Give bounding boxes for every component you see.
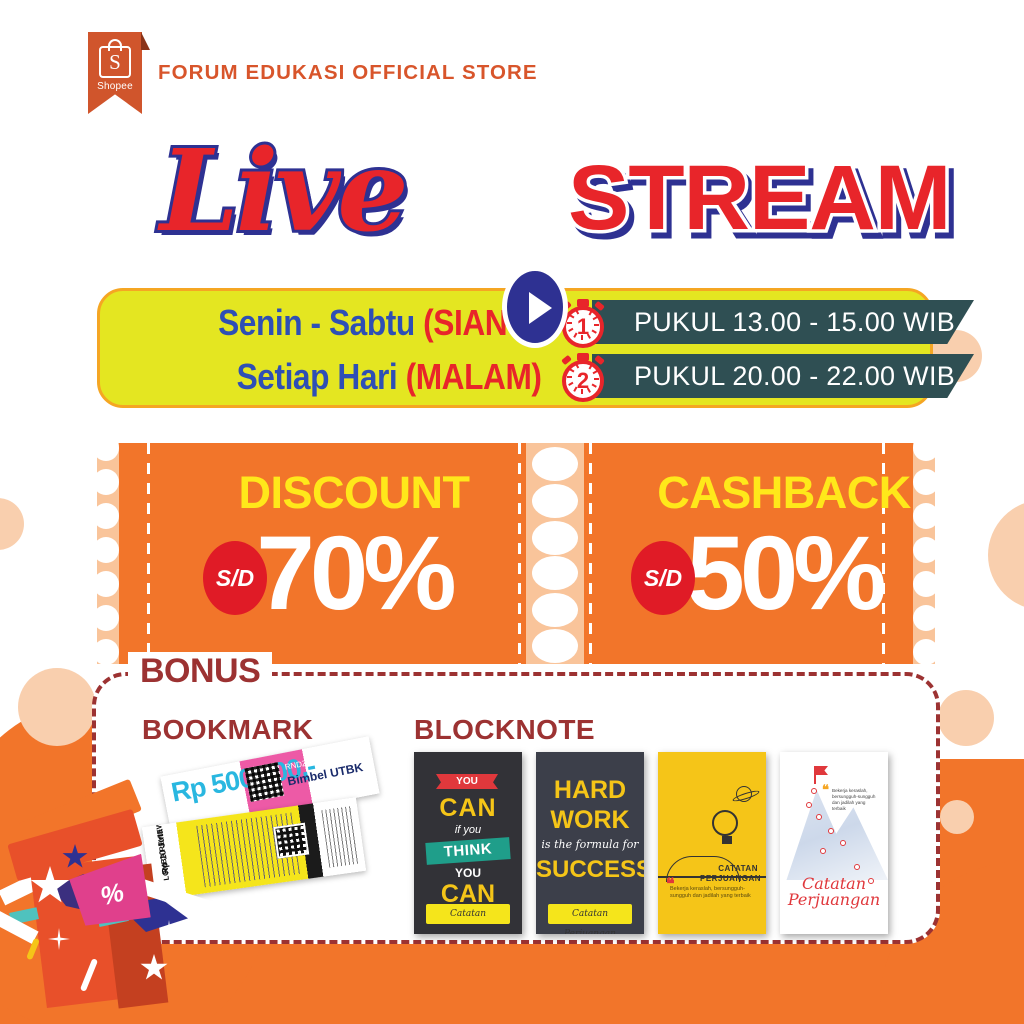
quote-icon: ❝ xyxy=(822,786,829,794)
store-header: S Shopee FORUM EDUKASI OFFICIAL STORE xyxy=(88,32,538,114)
shopee-logo-letter: S xyxy=(99,47,131,77)
planet-icon xyxy=(736,786,752,802)
blocknote-card: ❝ Bekerja keraslah, bersungguh-sungguh d… xyxy=(780,752,888,934)
title-live: Live xyxy=(160,126,406,257)
blocknote-line: THINK xyxy=(425,837,510,865)
blocknote-line: YOU xyxy=(436,774,498,789)
blocknote-card: CATATAN PERJUANGAN ❝ Bekerja keraslah, b… xyxy=(658,752,766,934)
coupon-heading: DISCOUNT xyxy=(179,467,529,519)
coupon-sd-badge: S/D xyxy=(631,541,695,615)
schedule-day: Setiap Hari (MALAM) xyxy=(237,356,542,398)
coupon-perforation xyxy=(526,443,584,664)
play-icon xyxy=(502,266,568,348)
blocknote-line: YOU xyxy=(414,866,522,880)
schedule-day: Senin - Sabtu (SIANG) xyxy=(219,302,542,344)
blocknote-caption: CATATAN PERJUANGAN xyxy=(700,864,758,884)
coupon-edge-left xyxy=(97,443,119,664)
shopee-logo-label: Shopee xyxy=(88,81,142,92)
livestream-title: Live STREAM xyxy=(150,118,910,273)
blocknote-line: is the formula for xyxy=(536,838,644,851)
coupon-discount: DISCOUNT S/D 70% xyxy=(179,443,529,664)
flag-icon xyxy=(814,766,816,784)
bookmark-side-text xyxy=(321,806,359,868)
qr-code-icon xyxy=(273,823,309,859)
blocknote-footer: Catatan Perjuangan xyxy=(548,904,632,924)
blocknote-title: BLOCKNOTE xyxy=(414,714,595,746)
blocknote-line: if you xyxy=(414,824,522,836)
blocknote-card: YOU CAN if you THINK YOU CAN Catatan Per… xyxy=(414,752,522,934)
stopwatch-number: 2 xyxy=(562,360,604,402)
blocknote-quote: Bekerja keraslah, bersungguh-sungguh dan… xyxy=(832,788,880,812)
stopwatch-icon: 2 xyxy=(560,355,606,401)
coupon-banner: DISCOUNT S/D 70% CASHBACK S/D 50% xyxy=(97,443,935,664)
coupon-sd-badge: S/D xyxy=(203,541,267,615)
blocknote-line: SUCCESS xyxy=(536,856,644,884)
blocknote-card: HARD WORK is the formula for SUCCESS Cat… xyxy=(536,752,644,934)
gift-box-illustration: % xyxy=(0,770,210,1024)
lightbulb-icon xyxy=(712,810,738,836)
blocknote-caption: Catatan Perjuangan xyxy=(780,876,888,908)
bookmark-title: BOOKMARK xyxy=(142,714,313,746)
coupon-cashback: CASHBACK S/D 50% xyxy=(609,443,959,664)
blocknote-footer: Catatan Perjuangan xyxy=(426,904,510,924)
schedule-time: PUKUL 13.00 - 15.00 WIB xyxy=(592,300,974,344)
decor-circle xyxy=(18,668,96,746)
title-stream: STREAM xyxy=(568,146,950,251)
bonus-label: BONUS xyxy=(128,652,272,691)
store-name: FORUM EDUKASI OFFICIAL STORE xyxy=(158,61,538,85)
schedule-row: Setiap Hari (MALAM) 2 PUKUL 20.00 - 22.0… xyxy=(100,351,936,403)
blocknote-line: HARD xyxy=(536,776,644,805)
schedule-time: PUKUL 20.00 - 22.00 WIB xyxy=(592,354,974,398)
blocknote-quote: Bekerja keraslah, bersungguh-sungguh dan… xyxy=(670,886,754,900)
decor-circle xyxy=(940,800,974,834)
shopee-logo-icon: S Shopee xyxy=(88,32,142,114)
mountain-icon xyxy=(780,770,888,880)
poster-canvas: S Shopee FORUM EDUKASI OFFICIAL STORE Li… xyxy=(0,0,1024,1024)
blocknote-line: CAN xyxy=(414,794,522,823)
blocknote-line: WORK xyxy=(536,806,644,835)
coupon-heading: CASHBACK xyxy=(609,467,959,519)
decor-circle xyxy=(938,690,994,746)
coupon-dashed-line xyxy=(147,443,150,664)
coupon-body: DISCOUNT S/D 70% CASHBACK S/D 50% xyxy=(119,443,913,664)
bonus-panel: BONUS BOOKMARK BLOCKNOTE Rp 500.000,- RN… xyxy=(92,672,940,944)
qr-code-icon xyxy=(244,762,284,802)
blocknote-group: YOU CAN if you THINK YOU CAN Catatan Per… xyxy=(414,752,894,934)
stopwatch-number: 1 xyxy=(562,306,604,348)
